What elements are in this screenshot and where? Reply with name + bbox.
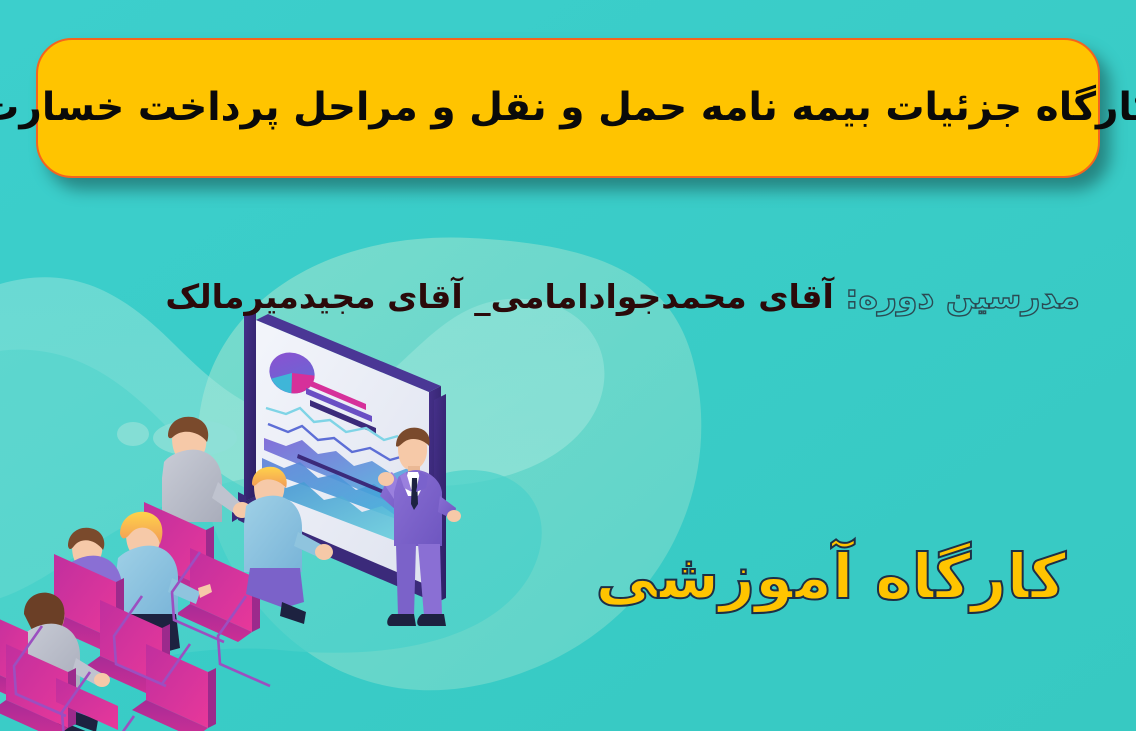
banner-title-text: کارگاه جزئیات بیمه نامه حمل و نقل و مراح… xyxy=(0,84,1136,133)
instructors-names: آقای محمدجوادامامی_ آقای مجیدمیرمالک xyxy=(165,277,833,316)
poster-root: کارگاه جزئیات بیمه نامه حمل و نقل و مراح… xyxy=(0,0,1136,731)
audience-person-back xyxy=(162,417,251,522)
title-banner: کارگاه جزئیات بیمه نامه حمل و نقل و مراح… xyxy=(36,38,1100,178)
workshop-illustration xyxy=(0,296,494,731)
instructors-label: مدرسین دوره: xyxy=(845,277,1080,316)
workshop-caption: کارگاه آموزشی xyxy=(596,540,1066,613)
instructors-line: مدرسین دوره: آقای محمدجوادامامی_ آقای مج… xyxy=(165,278,1080,316)
workshop-illustration-svg xyxy=(0,296,494,731)
